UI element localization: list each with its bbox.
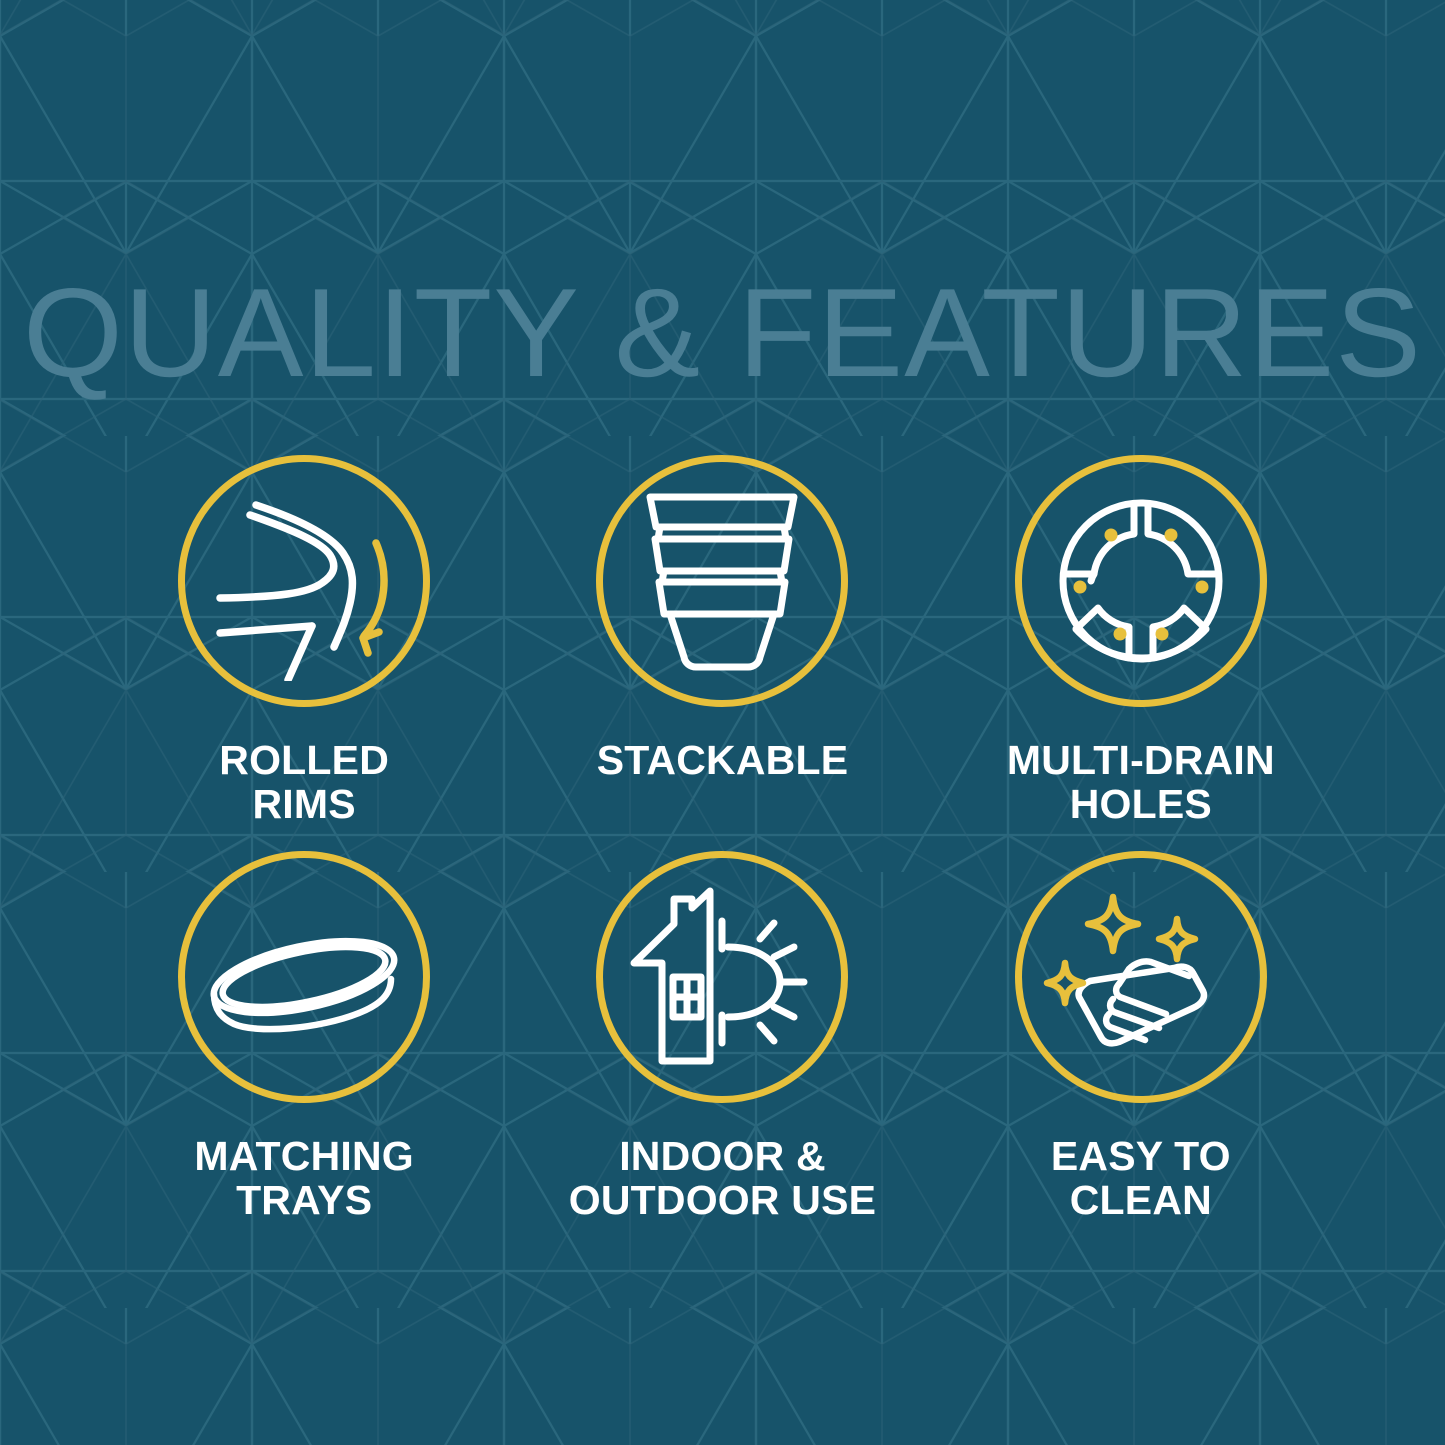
feature-label-indoor-outdoor-use: INDOOR & OUTDOOR USE [569,1135,876,1223]
badge-stackable [596,455,848,707]
drain-holes-icon [1041,481,1241,681]
feature-label-stackable: STACKABLE [597,739,849,783]
sparkle-icons [1047,897,1195,1003]
feature-label-matching-trays: MATCHING TRAYS [194,1135,413,1223]
wiping-hand-sparkle-icon [1041,877,1241,1077]
feature-item-stackable[interactable]: STACKABLE [513,455,931,851]
half-sun-shape [728,923,804,1041]
feature-item-easy-to-clean[interactable]: EASY TO CLEAN [932,851,1350,1247]
feature-label-multi-drain-holes: MULTI-DRAIN HOLES [1007,739,1275,827]
badge-matching-trays [178,851,430,1103]
house-sun-icon [622,877,822,1077]
feature-infographic-poster: QUALITY & FEATURES [0,0,1445,1445]
feature-item-multi-drain-holes[interactable]: MULTI-DRAIN HOLES [932,455,1350,851]
stacked-pots-icon [622,481,822,681]
hand-cloth-shape [1078,961,1203,1043]
badge-easy-to-clean [1015,851,1267,1103]
feature-item-matching-trays[interactable]: MATCHING TRAYS [95,851,513,1247]
feature-label-rolled-rims: ROLLED RIMS [219,739,389,827]
drain-hole-dots [1073,529,1208,641]
feature-label-easy-to-clean: EASY TO CLEAN [1051,1135,1231,1223]
badge-rolled-rims [178,455,430,707]
house-shape [634,891,710,1061]
page-title: QUALITY & FEATURES [0,270,1445,396]
badge-multi-drain-holes [1015,455,1267,707]
feature-grid: ROLLED RIMS [0,455,1445,1247]
feature-item-indoor-outdoor-use[interactable]: INDOOR & OUTDOOR USE [513,851,931,1247]
saucer-tray-icon [199,877,409,1077]
feature-item-rolled-rims[interactable]: ROLLED RIMS [95,455,513,851]
badge-indoor-outdoor-use [596,851,848,1103]
rolled-rim-icon [204,481,404,681]
